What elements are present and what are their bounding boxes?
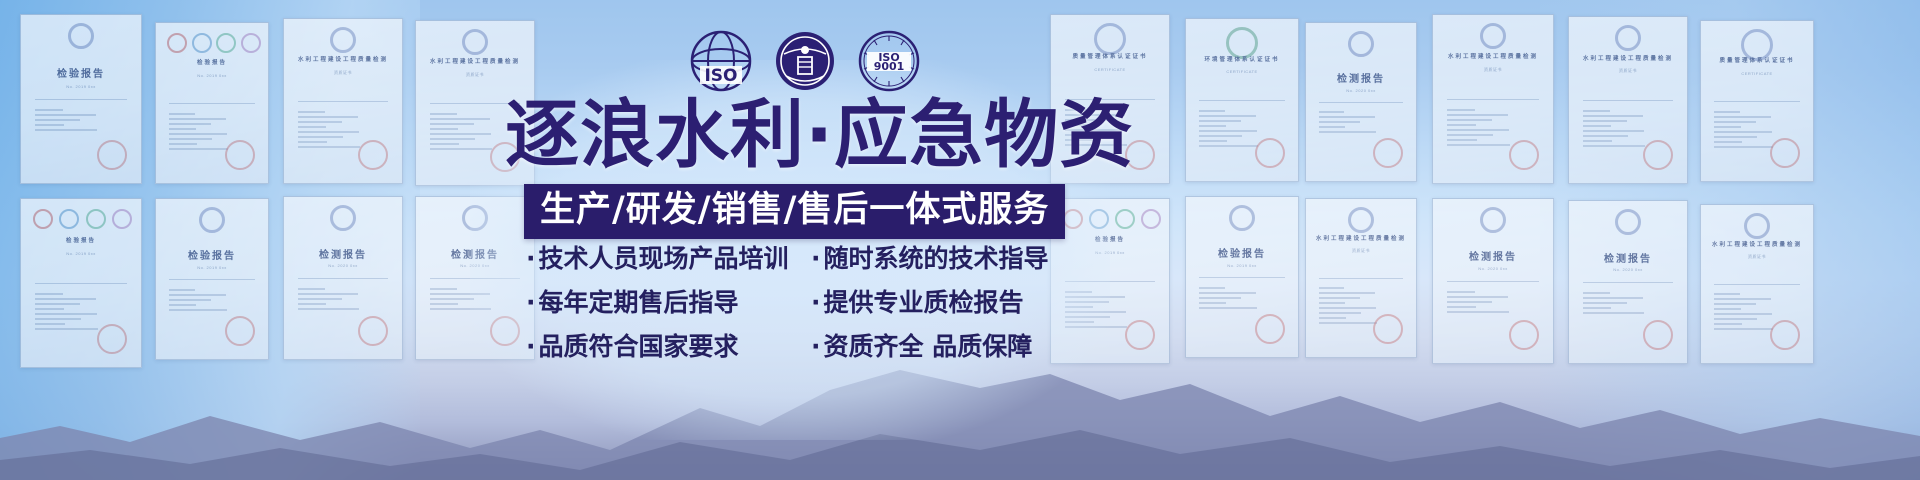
cert-seal-icon [97,140,127,170]
cert-title: 检测报告 [319,246,367,261]
cert-title: 检验报告 [1218,245,1266,260]
cert-emblem-icon [330,205,356,231]
feature-bullet-label: 资质齐全 品质保障 [824,332,1033,361]
cert-subtitle: No. 2020 0xx [460,263,490,268]
cert-emblem-icon [68,23,94,49]
cert-title: 水利工程建设工程质量检测 [430,57,520,65]
cert-divider [1199,100,1284,101]
cert-text-block [298,288,388,313]
cert-emblem-icon [199,207,225,233]
cert-seal-icon [1770,138,1800,168]
quality-emblem-badge [774,30,836,92]
cert-logo-mark [33,209,53,229]
feature-bullet-item: ·提供专业质检报告 [811,290,1071,315]
banner-headline: 逐浪水利·应急物资 [505,98,1134,172]
cert-subtitle: 资质证书 [1619,68,1637,74]
cert-title: 水利工程建设工程质量检测 [1448,52,1538,60]
cert-subtitle: No. 2019 0xx [197,73,227,78]
banner-subtitle-band: 生产/研发/销售/售后一体式服务 [524,184,1065,239]
cert-logo-mark [86,209,106,229]
cert-emblem-icon [462,205,488,231]
feature-bullet-item: ·随时系统的技术指导 [811,246,1071,271]
cert-divider [35,283,126,284]
cert-subtitle: 资质证书 [1484,67,1502,73]
cert-title: 检测报告 [451,246,499,261]
cert-text-block [169,289,254,314]
cert-divider [169,103,254,104]
certificate-thumbnail: 检测报告No. 2020 0xx [1305,22,1417,182]
cert-subtitle: CERTIFICATE [1226,69,1257,74]
cert-divider [1447,99,1538,100]
feature-bullet-label: 品质符合国家要求 [539,332,739,361]
cert-seal-icon [1509,140,1539,170]
feature-bullet-list: ·技术人员现场产品培训·随时系统的技术指导·每年定期售后指导·提供专业质检报告·… [526,246,1071,359]
certification-logos: ISO [690,30,920,92]
feature-bullet-label: 提供专业质检报告 [824,288,1024,317]
cert-logo-mark [167,33,187,53]
cert-logo-mark [1115,209,1135,229]
cert-seal-icon [1373,138,1403,168]
certificate-thumbnail: 环境管理体系认证证书CERTIFICATE [1185,18,1299,182]
bullet-dot-icon: · [526,244,536,273]
feature-bullet-row: ·技术人员现场产品培训·随时系统的技术指导 [526,246,1071,271]
cert-divider [298,101,388,102]
cert-subtitle: 资质证书 [334,70,352,76]
cert-divider [1714,101,1799,102]
bullet-dot-icon: · [811,332,821,361]
cert-emblem-icon [1480,23,1506,49]
cert-subtitle: No. 2019 0xx [197,265,227,270]
cert-subtitle: No. 2019 0xx [66,84,96,89]
bullet-dot-icon: · [811,288,821,317]
cert-title: 水利工程建设工程质量检测 [1712,240,1802,248]
feature-bullet-item: ·技术人员现场产品培训 [526,246,811,271]
feature-bullet-label: 随时系统的技术指导 [824,244,1049,273]
cert-logo-mark [112,209,132,229]
cert-seal-icon [1255,138,1285,168]
certificate-thumbnail: 检验报告No. 2019 0xx [155,22,269,184]
cert-text-block [1583,292,1673,317]
cert-logo-mark [216,33,236,53]
certificate-thumbnail: 质量管理体系认证证书CERTIFICATE [1700,20,1814,182]
cert-divider [430,278,520,279]
cert-text-block [430,288,520,313]
feature-bullet-item: ·资质齐全 品质保障 [811,334,1071,359]
cert-subtitle: No. 2019 0xx [1095,250,1125,255]
cert-title: 质量管理体系认证证书 [1072,52,1147,60]
feature-bullet-row: ·每年定期售后指导·提供专业质检报告 [526,290,1071,315]
cert-subtitle: No. 2020 0xx [1613,267,1643,272]
promo-banner: 检验报告No. 2019 0xx检验报告No. 2019 0xx水利工程建设工程… [0,0,1920,480]
cert-title: 水利工程建设工程质量检测 [1316,234,1406,242]
bullet-dot-icon: · [526,288,536,317]
cert-emblem-icon [1480,207,1506,233]
cert-emblem-icon [1348,207,1374,233]
cert-title: 环境管理体系认证证书 [1204,55,1279,63]
cert-text-block [1447,291,1538,316]
cert-divider [1714,284,1799,285]
cert-logo-mark [1141,209,1161,229]
cert-logo-mark [241,33,261,53]
cert-divider [1319,102,1403,103]
cert-text-block [35,109,126,134]
cert-title: 检测报告 [1604,250,1652,265]
cert-emblem-icon [462,29,488,55]
cert-divider [1583,282,1673,283]
banner-subtitle-text: 生产/研发/销售/售后一体式服务 [540,190,1049,230]
feature-bullet-label: 技术人员现场产品培训 [539,244,789,273]
iso-9001-badge: ISO 9001 [858,30,920,92]
cert-subtitle: CERTIFICATE [1741,71,1772,76]
feature-bullet-row: ·品质符合国家要求·资质齐全 品质保障 [526,334,1071,359]
cert-title: 水利工程建设工程质量检测 [298,55,388,63]
certificate-thumbnail: 水利工程建设工程质量检测资质证书 [1568,16,1688,184]
cert-divider [1199,277,1284,278]
cert-emblem-icon [330,27,356,53]
cert-divider [1583,100,1673,101]
cert-logo-mark [192,33,212,53]
certificate-thumbnail: 检验报告No. 2019 0xx [20,14,142,184]
bullet-dot-icon: · [811,244,821,273]
certificate-thumbnail: 水利工程建设工程质量检测资质证书 [1432,14,1554,184]
cert-divider [298,278,388,279]
cert-emblem-icon [1229,205,1255,231]
cert-subtitle: No. 2020 0xx [1346,88,1376,93]
cert-subtitle: 资质证书 [466,72,484,78]
iso-globe-badge: ISO [690,30,752,92]
cert-title: 水利工程建设工程质量检测 [1583,54,1673,62]
cert-emblem-icon [1744,213,1770,239]
cert-text-block [1319,111,1403,136]
cert-logo-mark [59,209,79,229]
cert-seal-icon [225,140,255,170]
cert-divider [35,99,126,100]
cert-seal-icon [1643,140,1673,170]
cert-emblem-icon [1615,25,1641,51]
certificate-thumbnail: 水利工程建设工程质量检测资质证书 [283,18,403,184]
cert-logo-mark [1063,209,1083,229]
cert-subtitle: No. 2020 0xx [1478,266,1508,271]
feature-bullet-item: ·每年定期售后指导 [526,290,811,315]
cert-subtitle: No. 2020 0xx [328,263,358,268]
cert-text-block [1199,287,1284,312]
cert-title: 检验报告 [1095,235,1125,243]
cert-seal-icon [358,140,388,170]
cert-emblem-icon [1094,23,1126,55]
cert-title: 检验报告 [57,65,105,80]
cert-divider [1065,281,1155,282]
cert-divider [169,279,254,280]
feature-bullet-label: 每年定期售后指导 [539,288,739,317]
cert-title: 检测报告 [1469,248,1517,263]
cert-subtitle: No. 2019 0xx [1227,263,1257,268]
feature-bullet-item: ·品质符合国家要求 [526,334,811,359]
cert-divider [1319,278,1403,279]
cert-title: 检验报告 [197,58,227,66]
cert-subtitle: CERTIFICATE [1094,67,1125,72]
cert-title: 检验报告 [66,236,96,244]
cert-logo-mark [1089,209,1109,229]
cert-title: 检测报告 [1337,70,1385,85]
cert-subtitle: 资质证书 [1748,254,1766,260]
cert-subtitle: No. 2019 0xx [66,251,96,256]
cert-emblem-icon [1615,209,1641,235]
cert-divider [1447,281,1538,282]
cert-emblem-icon [1348,31,1374,57]
svg-text:ISO: ISO [704,66,737,86]
cert-title: 质量管理体系认证证书 [1719,56,1794,64]
cert-subtitle: 资质证书 [1352,248,1370,254]
bullet-dot-icon: · [526,332,536,361]
svg-text:9001: 9001 [874,60,905,73]
cert-title: 检验报告 [188,247,236,262]
